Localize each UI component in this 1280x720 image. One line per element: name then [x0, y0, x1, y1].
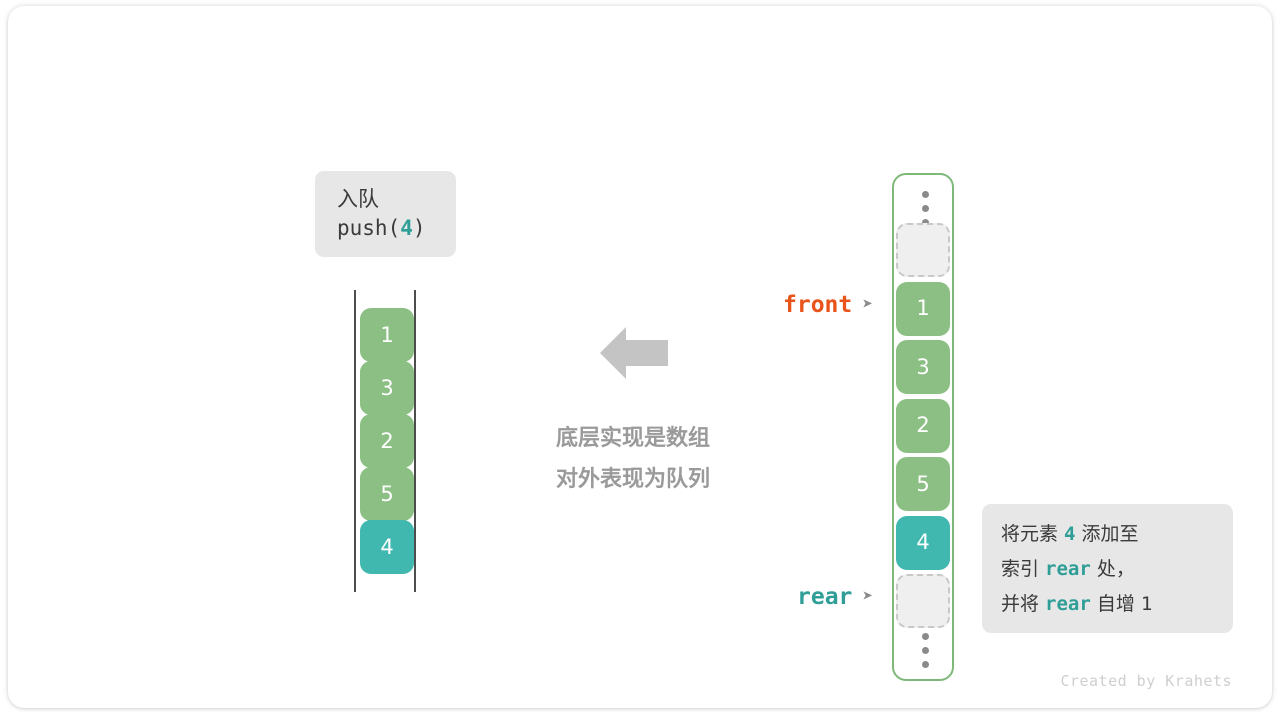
note-line-3-post: 自增 — [1091, 593, 1141, 615]
watermark: Created by Krahets — [1060, 672, 1232, 690]
array-slot: 1 — [896, 282, 950, 336]
operation-label-box: 入队 push(4) — [315, 171, 456, 257]
pointer-front-label: front — [783, 292, 852, 318]
queue-cell: 4 — [360, 520, 414, 574]
operation-title: 入队 — [337, 185, 456, 213]
queue-rail-right — [414, 290, 416, 592]
array-slot: 3 — [896, 340, 950, 394]
array-slot: 4 — [896, 516, 950, 570]
center-caption-line-2: 对外表现为队列 — [478, 459, 788, 500]
note-line-2-pre: 索引 — [1001, 558, 1045, 580]
dot — [922, 633, 929, 640]
note-line-1-post: 添加至 — [1076, 523, 1139, 545]
note-line-3-code: rear — [1045, 593, 1091, 615]
vertical-ellipsis-icon-top — [894, 191, 956, 226]
operation-code-prefix: push( — [337, 216, 400, 240]
array-slot-empty — [896, 574, 950, 628]
pointer-front: front ➤ — [783, 292, 873, 318]
center-caption: 底层实现是数组 对外表现为队列 — [478, 418, 788, 500]
queue-cell: 1 — [360, 308, 414, 362]
note-line-3: 并将 rear 自增 1 — [1001, 587, 1233, 622]
vertical-ellipsis-icon-bottom — [894, 633, 956, 668]
array-slot-empty — [896, 223, 950, 277]
dot — [922, 191, 929, 198]
pointer-rear-label: rear — [797, 584, 852, 610]
queue-rail-left — [354, 290, 356, 592]
left-block-arrow-icon — [600, 322, 668, 384]
note-line-1: 将元素 4 添加至 — [1001, 517, 1233, 552]
note-line-3-tail: 1 — [1141, 593, 1152, 615]
pointer-rear-arrow-icon: ➤ — [862, 588, 873, 606]
note-line-1-pre: 将元素 — [1001, 523, 1064, 545]
note-line-3-pre: 并将 — [1001, 593, 1045, 615]
operation-code-suffix: ) — [413, 216, 426, 240]
dot — [922, 647, 929, 654]
note-line-2-code: rear — [1045, 558, 1091, 580]
operation-code-value: 4 — [400, 216, 413, 240]
note-line-2-post: 处， — [1091, 558, 1135, 580]
pointer-front-arrow-icon: ➤ — [862, 296, 873, 314]
note-line-2: 索引 rear 处， — [1001, 552, 1233, 587]
queue-cell: 3 — [360, 361, 414, 415]
array-backing-view: 13254 — [892, 173, 954, 681]
array-slot: 5 — [896, 457, 950, 511]
queue-cell: 5 — [360, 467, 414, 521]
annotation-note-box: 将元素 4 添加至 索引 rear 处， 并将 rear 自增 1 — [982, 504, 1233, 633]
queue-cell: 2 — [360, 414, 414, 468]
pointer-rear: rear ➤ — [797, 584, 873, 610]
array-slot: 2 — [896, 399, 950, 453]
dot — [922, 661, 929, 668]
operation-code: push(4) — [337, 213, 456, 243]
center-caption-line-1: 底层实现是数组 — [478, 418, 788, 459]
note-line-1-code: 4 — [1064, 523, 1075, 545]
figure-canvas: 入队 push(4) 13254 底层实现是数组 对外表现为队列 front ➤… — [8, 6, 1272, 708]
dot — [922, 205, 929, 212]
